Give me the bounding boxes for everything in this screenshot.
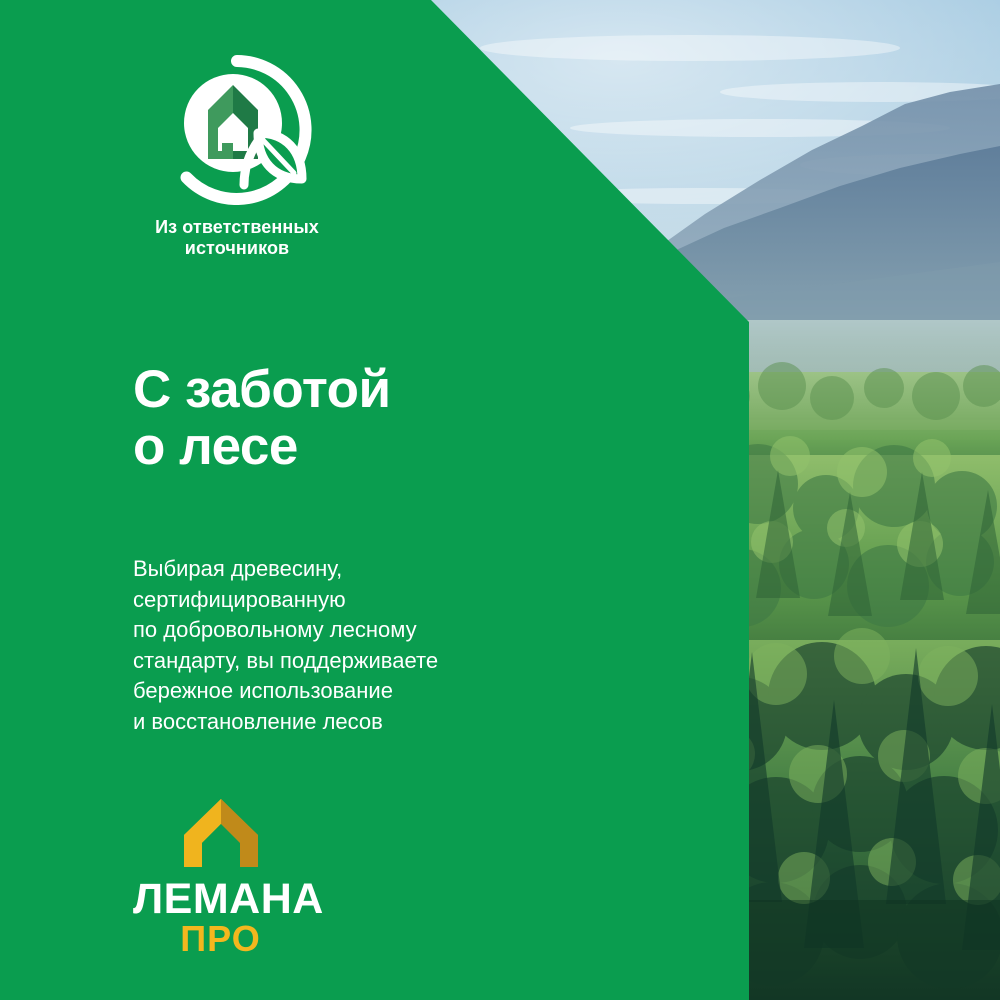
poster-root: Из ответственных источников С заботой о … [0,0,1000,1000]
certification-caption-line2: источников [122,238,352,259]
poster-content: Из ответственных источников С заботой о … [0,0,1000,1000]
brand-name: ЛЕМАНА [133,877,308,921]
body-paragraph: Выбирая древесину, сертифицированную по … [133,554,553,737]
page-title: С заботой о лесе [133,361,391,475]
brand-lockup: ЛЕМАНА ПРО [133,795,308,958]
certification-caption: Из ответственных источников [122,217,352,259]
lemana-house-icon [178,795,264,871]
certification-badge: Из ответственных источников [122,55,352,259]
certification-caption-line1: Из ответственных [122,217,352,238]
brand-sub: ПРО [133,920,308,958]
responsible-sources-house-leaf-mark [162,55,312,205]
